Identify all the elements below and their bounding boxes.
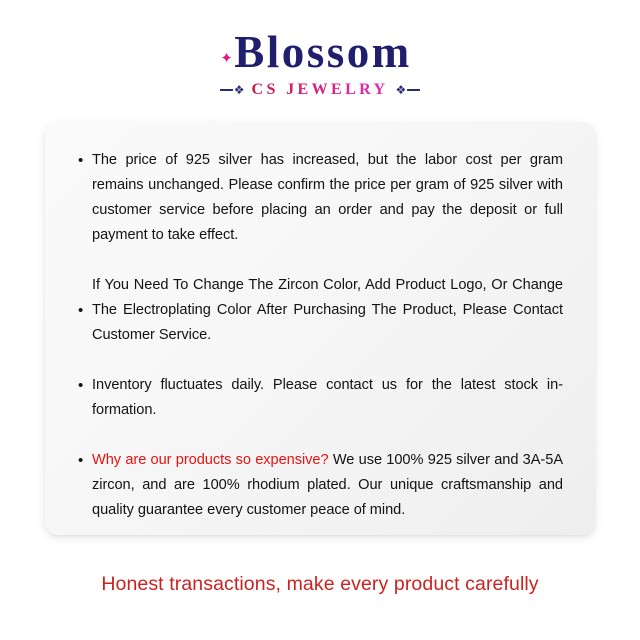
bullet-marker: • xyxy=(78,148,88,173)
notice-card: • The price of 925 silver has increased,… xyxy=(45,122,595,535)
notice-text: The price of 925 silver has increased, b… xyxy=(92,148,563,248)
promo-banner: ✦ Blossom ❖ CS JEWELRY ❖ • The price of … xyxy=(0,0,640,640)
diamond-ornament-right-icon: ❖ xyxy=(396,85,421,96)
brand-subtitle: CS JEWELRY xyxy=(251,81,388,99)
notice-highlight-question: Why are our products so expensive? xyxy=(92,452,329,468)
notice-item-customization: • If You Need To Change The Zircon Color… xyxy=(78,273,563,348)
diamond-ornament-left-icon: ❖ xyxy=(220,85,245,96)
notice-text: Inventory fluctuates daily. Please conta… xyxy=(92,373,563,423)
brand-wordmark: ✦ Blossom xyxy=(228,26,412,78)
notice-item-inventory: • Inventory fluctuates daily. Please con… xyxy=(78,373,563,423)
sparkle-icon: ✦ xyxy=(220,52,233,65)
brand-header: ✦ Blossom ❖ CS JEWELRY ❖ xyxy=(0,26,640,99)
bullet-marker: • xyxy=(78,448,88,473)
bullet-marker: • xyxy=(78,306,88,316)
notice-list: • The price of 925 silver has increased,… xyxy=(78,148,563,523)
notice-text-wrapper: Why are our products so expensive? We us… xyxy=(92,448,563,523)
notice-item-price: • The price of 925 silver has increased,… xyxy=(78,148,563,248)
bullet-marker: • xyxy=(78,373,88,398)
brand-wordmark-text: Blossom xyxy=(234,27,412,77)
brand-subtitle-row: ❖ CS JEWELRY ❖ xyxy=(0,81,640,99)
notice-item-quality: • Why are our products so expensive? We … xyxy=(78,448,563,523)
notice-text: If You Need To Change The Zircon Color, … xyxy=(92,273,563,348)
footer-tagline: Honest transactions, make every product … xyxy=(0,570,640,598)
